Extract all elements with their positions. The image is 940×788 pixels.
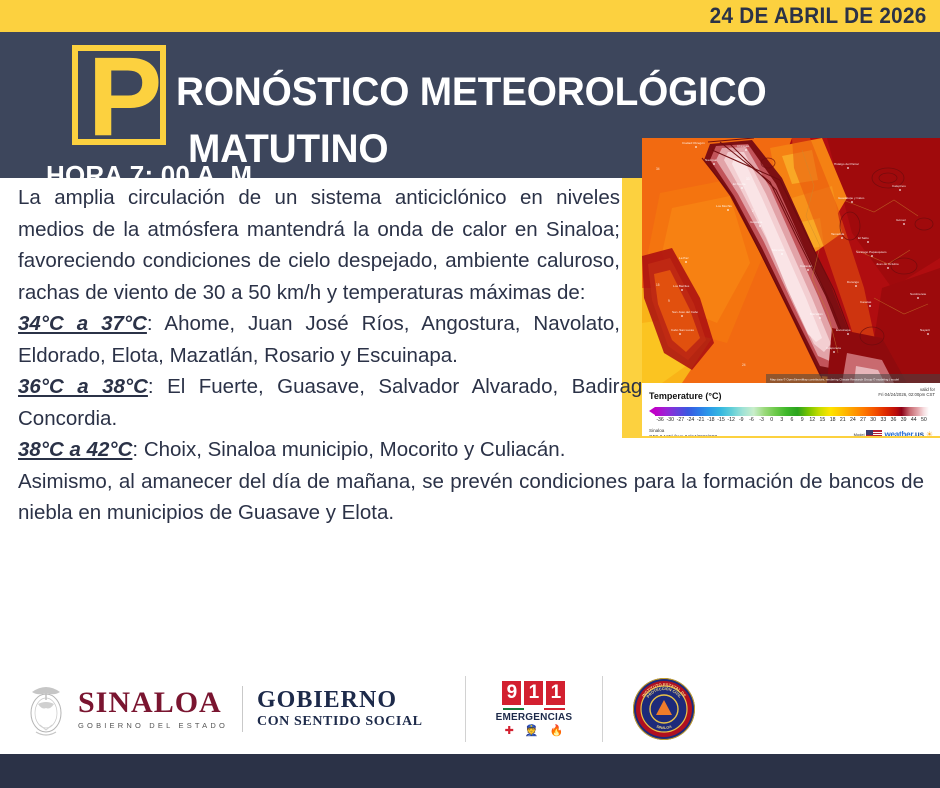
colorbar-tick: 44 [911,417,917,423]
date-label: 24 DE ABRIL DE 2026 [710,3,940,29]
svg-text:Sombrerete: Sombrerete [910,292,926,296]
svg-text:9: 9 [668,299,670,303]
svg-text:Hidalgo del Parral: Hidalgo del Parral [834,162,859,166]
brand-suffix: us [915,430,924,436]
bottom-navy-bar [0,754,940,788]
emergency-word: EMERGENCIAS [496,712,573,723]
colorbar-tick: 12 [809,417,815,423]
colorbar-tick: -15 [717,417,725,423]
digit-1b: 1 [546,681,565,705]
sinaloa-wordmark: SINALOA GOBIERNO DEL ESTADO [78,688,228,730]
svg-text:El Salto: El Salto [858,236,869,240]
colorbar-gradient [655,407,929,416]
svg-text:Chinipas: Chinipas [737,144,749,148]
svg-text:Guasave: Guasave [750,220,763,224]
emergency-911-logo: 9 1 1 EMERGENCIAS ✚ 👮 🔥 [496,681,573,737]
svg-text:6: 6 [776,138,778,139]
fire-icon: 🔥 [550,726,564,737]
svg-text:Cabo San Lucas: Cabo San Lucas [671,328,694,332]
svg-text:Calepinos: Calepinos [892,184,906,188]
page-title-line1: RONÓSTICO METEOROLÓGICO [176,70,766,115]
colorbar-tick: -3 [759,417,764,423]
svg-text:San José del Cabo: San José del Cabo [672,310,698,314]
svg-text:Escuinapa: Escuinapa [836,328,851,332]
emergency-service-icons: ✚ 👮 🔥 [496,726,573,737]
sun-icon: ☀ [926,430,933,436]
colorbar-tick: -9 [739,417,744,423]
date-bar: 24 DE ABRIL DE 2026 [0,0,940,32]
footer-separator-1 [465,676,466,742]
colorbar-tick: -6 [749,417,754,423]
colorbar-tick: -24 [687,417,695,423]
colorbar-ticks: -36-30-27-24-21-18-15-12-9-6-30369121518… [649,417,935,426]
svg-text:Nayarit: Nayarit [920,328,930,332]
colorbar-tick: -30 [666,417,674,423]
colorbar-right-cap [929,407,935,415]
gobierno-wordmark: GOBIERNO CON SENTIDO SOCIAL [257,688,423,730]
footer-separator-2 [602,676,603,742]
p-logo-box: P [72,45,166,145]
colorbar-tick: 15 [820,417,826,423]
colorbar-tick: 39 [901,417,907,423]
colorbar-tick: -12 [727,417,735,423]
svg-text:Los Mochis: Los Mochis [716,204,732,208]
gobierno-line2: CON SENTIDO SOCIAL [257,714,423,730]
colorbar-tick: 21 [840,417,846,423]
digit-1a: 1 [524,681,543,705]
svg-text:Canelas: Canelas [860,300,872,304]
colorbar-tick: 3 [780,417,783,423]
logo-divider [242,686,243,732]
colorbar-tick: 30 [870,417,876,423]
svg-text:Los Barriles: Los Barriles [673,284,690,288]
closing-paragraph: Asimismo, al amanecer del día de mañana,… [18,466,924,529]
temperature-legend: valid for Fri 04/24/2026, 02:00pm CST Te… [642,383,940,436]
colorbar-tick: -36 [656,417,664,423]
colorbar-tick: 18 [830,417,836,423]
civil-protection-emblem: INSTITUTO ESTATAL DE PROTECCIÓN CIVIL SI… [633,678,695,740]
legend-title: Temperature (°C) [649,391,721,401]
svg-text:Map data © OpenStreetMap contr: Map data © OpenStreetMap contributors, r… [770,378,899,382]
colorbar-tick: 24 [850,417,856,423]
svg-text:Gómez: Gómez [896,218,906,222]
range-sep-3: : [132,438,143,461]
svg-text:Acaponeta: Acaponeta [826,346,841,350]
svg-text:Mocorito: Mocorito [772,248,784,252]
weather-us-brand: Model weather.us ☀ [854,430,933,436]
svg-text:Culiacán: Culiacán [800,264,812,268]
colorbar-tick: -21 [697,417,705,423]
svg-text:33: 33 [746,177,750,181]
footer-logo-bar: SINALOA GOBIERNO DEL ESTADO GOBIERNO CON… [0,664,940,754]
colorbar-tick: 50 [921,417,927,423]
range-label-3: 38°C a 42°C [18,438,132,461]
colorbar-tick: 27 [860,417,866,423]
brand-word: weather. [884,430,914,436]
gobierno-line1: GOBIERNO [257,688,423,713]
legend-source: Sinaloa GFS 0.125° from 04/24/2026/00Z [649,428,717,436]
colorbar-tick: 0 [770,417,773,423]
sinaloa-government-logo: SINALOA GOBIERNO DEL ESTADO GOBIERNO CON… [24,680,423,738]
range-sep-2: : [148,375,167,398]
valid-for-line2: Fri 04/24/2026, 02:00pm CST [878,392,935,397]
range-label-2: 36°C a 38°C [18,375,148,398]
state-seal-icon [24,680,68,738]
tricolor-rule [503,708,565,710]
svg-text:La Paz: La Paz [679,256,689,260]
svg-text:Ciudad Obregón: Ciudad Obregón [682,141,705,145]
colorbar-tick: 9 [801,417,804,423]
legend-footer: Sinaloa GFS 0.125° from 04/24/2026/00Z M… [649,428,935,436]
colorbar-tick: 6 [791,417,794,423]
svg-text:El Fuerte: El Fuerte [733,182,746,186]
svg-text:Santiago Papasquiaro: Santiago Papasquiaro [856,250,887,254]
range-paragraph-1: 34°C a 37°C: Ahome, Juan José Ríos, Ango… [18,308,620,371]
colorbar-tick: -27 [677,417,685,423]
range-label-1: 34°C a 37°C [18,312,147,335]
svg-text:Tamazula: Tamazula [831,232,845,236]
police-hat-icon: 👮 [525,726,539,737]
svg-text:Juan de Octubre: Juan de Octubre [876,262,899,266]
svg-text:15: 15 [656,283,660,287]
model-label: Model [854,432,865,436]
forecast-infographic: 24 DE ABRIL DE 2026 P RONÓSTICO METEOROL… [0,0,940,788]
svg-text:34: 34 [656,167,660,171]
source-line2: GFS 0.125° from 04/24/2026/00Z [649,434,717,436]
temperature-map-image: Ciudad Obregón Chinipas Navojoa El Fuert… [642,138,940,383]
range-paragraph-3: 38°C a 42°C: Choix, Sinaloa municipio, M… [18,434,924,466]
us-flag-icon [866,430,882,436]
range-places-3: Choix, Sinaloa municipio, Mocorito y Cul… [144,438,566,461]
temperature-map-block: Ciudad Obregón Chinipas Navojoa El Fuert… [642,138,940,436]
colorbar-wrap [649,407,935,416]
p-logo-letter: P [78,51,172,151]
sinaloa-subtitle: GOBIERNO DEL ESTADO [78,721,228,730]
svg-text:2: 2 [752,209,754,213]
colorbar-tick: -18 [707,417,715,423]
brand-text: weather.us [884,430,923,436]
digit-9: 9 [502,681,521,705]
svg-text:Mazatlán: Mazatlán [810,312,823,316]
cross-icon: ✚ [505,726,514,737]
range-sep-1: : [147,312,165,335]
emergency-digits: 9 1 1 [496,681,573,705]
colorbar-tick: 36 [891,417,897,423]
svg-text:Guadalupe y Calvo: Guadalupe y Calvo [838,196,865,200]
sinaloa-name: SINALOA [78,688,228,718]
svg-text:Durango: Durango [847,280,859,284]
intro-paragraph: La amplia circulación de un sistema anti… [18,182,620,308]
colorbar-tick: 33 [880,417,886,423]
svg-text:24: 24 [742,363,746,367]
svg-text:Navojoa: Navojoa [705,158,717,162]
legend-valid-for: valid for Fri 04/24/2026, 02:00pm CST [878,387,935,398]
